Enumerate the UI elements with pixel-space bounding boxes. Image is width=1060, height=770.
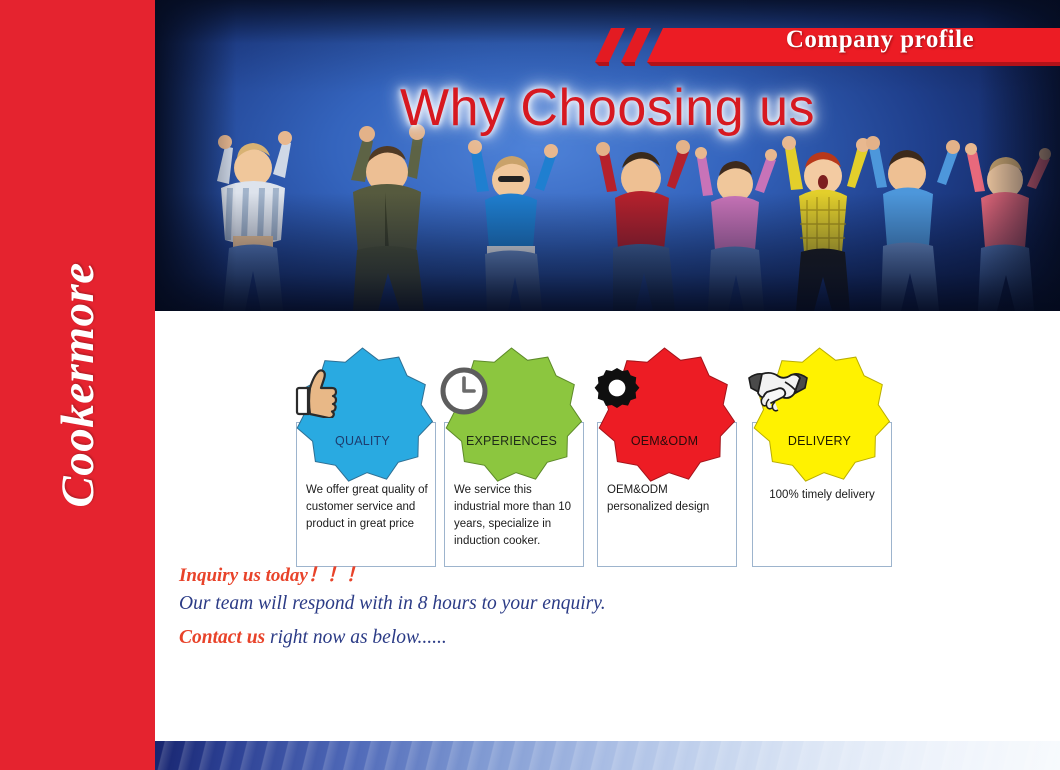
brand-name: Cookermore <box>51 262 105 507</box>
clock-icon <box>439 366 584 416</box>
badge-oem-odm[interactable]: OEM&ODM <box>592 344 737 489</box>
handshake-icon <box>747 366 892 414</box>
badge-experiences[interactable]: EXPERIENCES <box>439 344 584 489</box>
content-area: We offer great quality of customer servi… <box>155 311 1060 741</box>
badge-label: EXPERIENCES <box>439 434 584 448</box>
ribbon-title: Company profile <box>725 26 1035 54</box>
badge-label: QUALITY <box>290 434 435 448</box>
slide-page: Company profile Why Choosing us We offer… <box>0 0 1060 770</box>
feature-card-body: 100% timely delivery <box>759 487 885 504</box>
gear-icon <box>592 366 737 416</box>
footer-streaks <box>155 741 1060 770</box>
feature-card-body: We offer great quality of customer servi… <box>306 482 429 533</box>
response-line: Our team will respond with in 8 hours to… <box>179 593 879 615</box>
inquiry-line: Inquiry us today！！！ <box>179 560 879 587</box>
badge-label: OEM&ODM <box>592 434 737 448</box>
contact-us-accent: Contact us <box>179 627 265 648</box>
hero-headline: Why Choosing us <box>155 78 1060 138</box>
badge-delivery[interactable]: DELIVERY <box>747 344 892 489</box>
thumbs-up-icon <box>290 366 435 418</box>
brand-sidebar: Cookermore <box>0 0 155 770</box>
badge-quality[interactable]: QUALITY <box>290 344 435 489</box>
contact-line: Contact us right now as below...... <box>179 627 879 649</box>
company-profile-ribbon: Company profile <box>585 20 1060 67</box>
footer-band <box>155 741 1060 770</box>
closing-message: Inquiry us today！！！ Our team will respon… <box>179 560 879 649</box>
contact-us-rest: right now as below...... <box>265 627 447 648</box>
badge-label: DELIVERY <box>747 434 892 448</box>
feature-cards: We offer great quality of customer servi… <box>296 422 1040 567</box>
feature-card-body: We service this industrial more than 10 … <box>454 482 577 550</box>
